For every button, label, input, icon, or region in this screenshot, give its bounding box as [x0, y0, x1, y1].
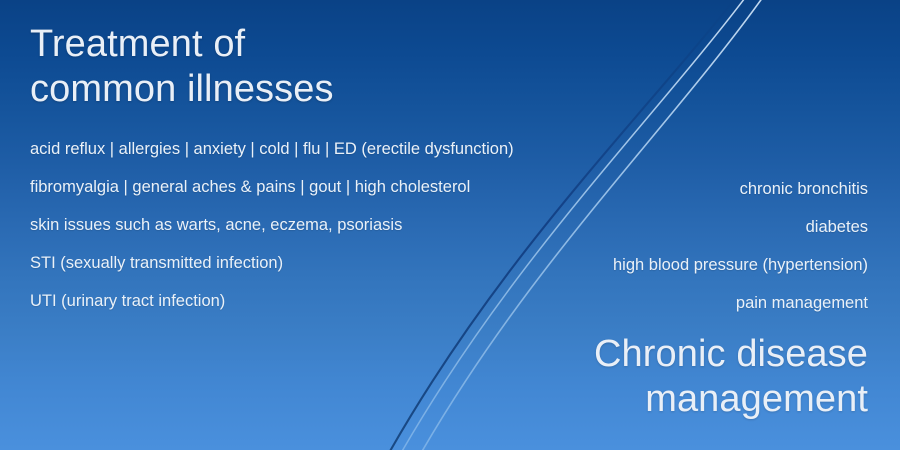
right-content-column: chronic bronchitis diabetes high blood p…	[448, 170, 868, 322]
secondary-headline: Chronic disease management	[408, 332, 868, 422]
list-item: diabetes	[448, 208, 868, 246]
primary-headline-line-1: Treatment of	[30, 22, 600, 67]
secondary-headline-line-1: Chronic disease	[408, 332, 868, 377]
chronic-conditions-list: chronic bronchitis diabetes high blood p…	[448, 170, 868, 322]
list-item: high blood pressure (hypertension)	[448, 246, 868, 284]
primary-headline: Treatment of common illnesses	[30, 22, 600, 112]
secondary-headline-line-2: management	[408, 377, 868, 422]
promo-banner: Treatment of common illnesses acid reflu…	[0, 0, 900, 450]
list-item: pain management	[448, 284, 868, 322]
list-item: acid reflux | allergies | anxiety | cold…	[30, 130, 600, 168]
list-item: chronic bronchitis	[448, 170, 868, 208]
primary-headline-line-2: common illnesses	[30, 67, 600, 112]
